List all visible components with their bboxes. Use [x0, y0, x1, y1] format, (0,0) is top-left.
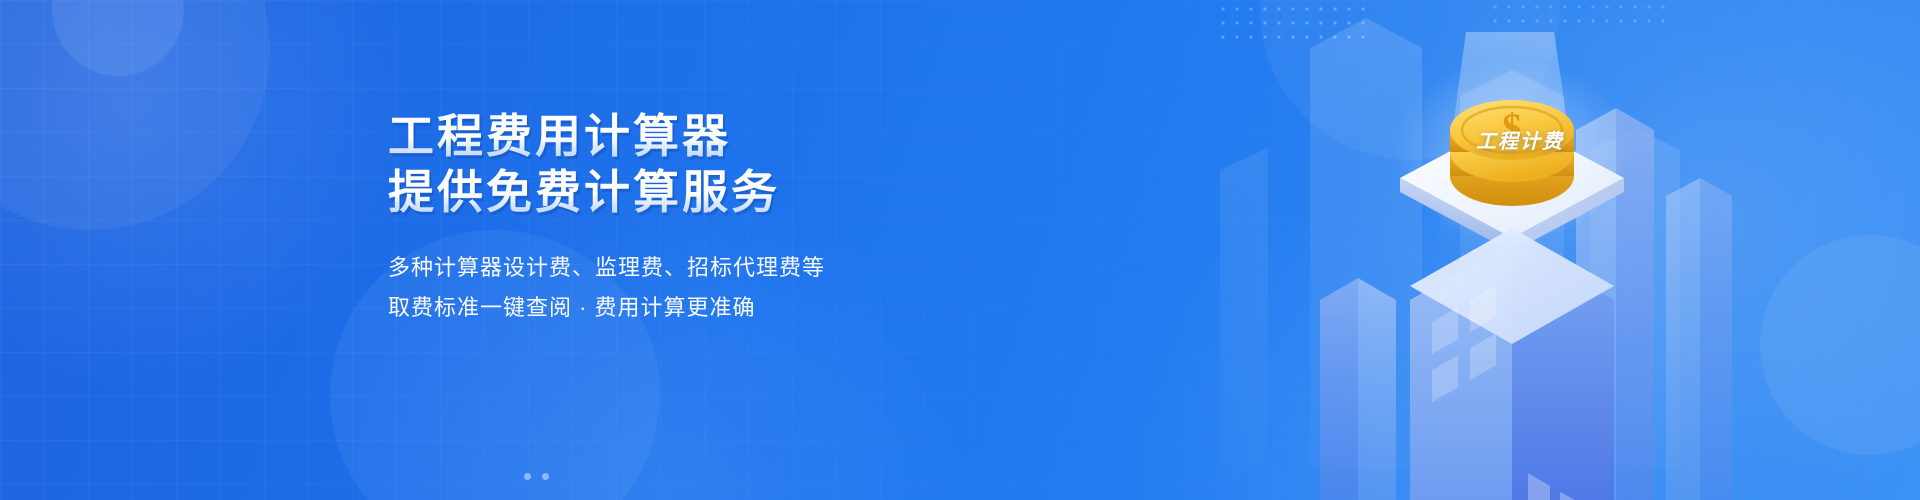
headline-line-2: 提供免费计算服务	[388, 164, 988, 220]
isometric-building-icon	[1410, 228, 1614, 500]
headline-line-1: 工程费用计算器	[388, 108, 988, 164]
hero-illustration: $ 工程计费	[1280, 0, 1780, 500]
subtitle-line-1: 多种计算器设计费、监理费、招标代理费等	[388, 248, 988, 288]
carousel-dot-2[interactable]	[542, 473, 549, 480]
carousel-dot-1[interactable]	[524, 473, 531, 480]
banner-text-block: 工程费用计算器 提供免费计算服务 多种计算器设计费、监理费、招标代理费等 取费标…	[388, 108, 988, 328]
hero-banner: 工程费用计算器 提供免费计算服务 多种计算器设计费、监理费、招标代理费等 取费标…	[0, 0, 1920, 500]
subtitle-line-2: 取费标准一键查阅 · 费用计算更准确	[388, 288, 988, 328]
illustration-badge: 工程计费	[1476, 125, 1564, 154]
carousel-indicators[interactable]	[524, 473, 549, 480]
